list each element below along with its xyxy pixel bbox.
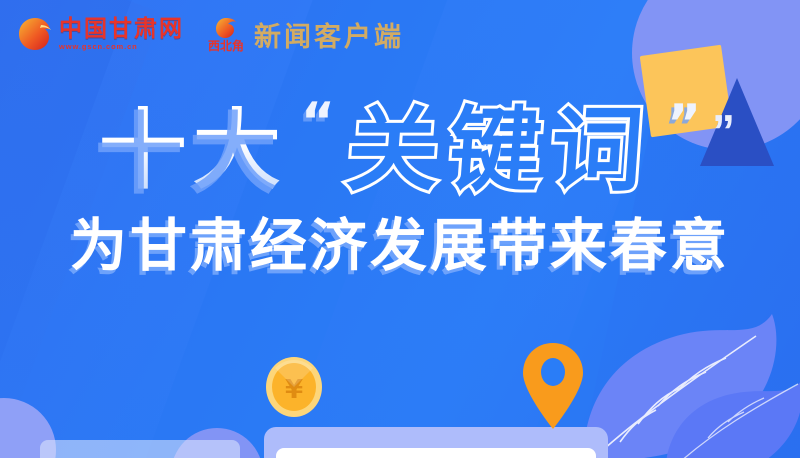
decor-quote-glyph: ” <box>712 108 733 154</box>
gscn-swirl-logo-icon <box>18 17 52 51</box>
location-pin-icon <box>521 342 585 430</box>
title-prefix: 十大 <box>99 106 295 194</box>
bottom-panel-tint <box>40 440 240 458</box>
xibeijiao-mark: 西北角 <box>208 17 244 52</box>
leaf-decoration <box>576 292 800 458</box>
logo-gscn-text: 中国甘肃网 www.gscn.com.cn <box>59 17 184 51</box>
title-line-1: 十大 “ 关键词 ” <box>0 92 800 208</box>
poster-canvas: ¥ 中国甘肃网 www.gscn.com.cn <box>0 0 800 458</box>
poster-title: 十大 “ 关键词 ” 为甘肃经济发展带来春意 <box>0 92 800 275</box>
app-name-label: 新闻客户端 <box>254 15 404 54</box>
yuan-coin-icon: ¥ <box>265 356 323 418</box>
logo-gscn-url: www.gscn.com.cn <box>59 43 184 51</box>
xibeijiao-drop-logo-icon <box>215 17 237 39</box>
site-header: 中国甘肃网 www.gscn.com.cn 西北角 <box>0 0 800 68</box>
logo-gscn[interactable]: 中国甘肃网 www.gscn.com.cn <box>18 17 184 51</box>
xibeijiao-name: 西北角 <box>208 40 244 52</box>
logo-xibeijiao[interactable]: 西北角 新闻客户端 <box>208 15 404 54</box>
quote-close-mark: ” <box>667 98 701 150</box>
quote-open-mark: “ <box>301 96 335 148</box>
title-keyword: 关键词 <box>338 104 662 196</box>
bottom-panel-inner <box>276 448 596 458</box>
logo-gscn-name: 中国甘肃网 <box>59 17 184 40</box>
title-line-2: 为甘肃经济发展带来春意 <box>0 218 800 275</box>
